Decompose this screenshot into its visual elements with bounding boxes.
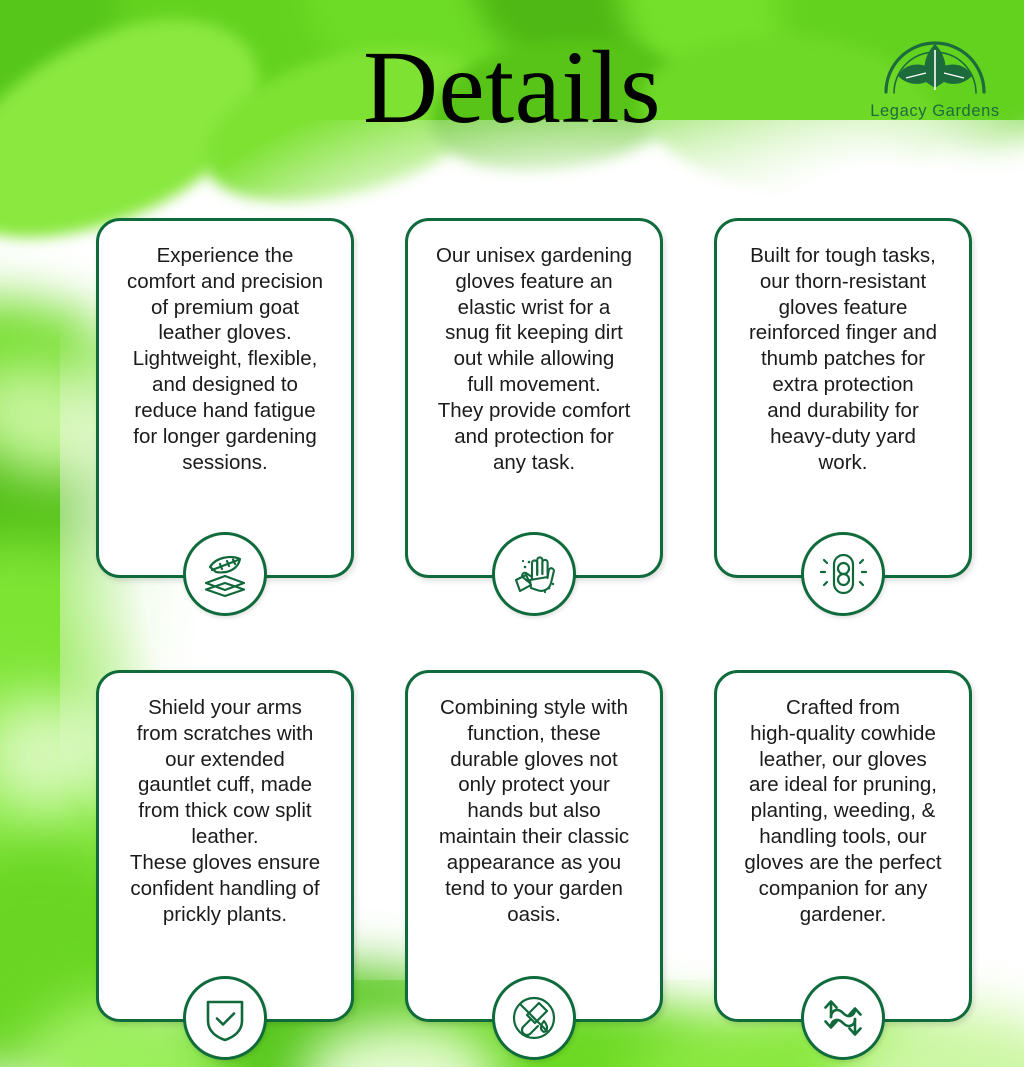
- feature-card-text: Combining style with function, these dur…: [422, 695, 646, 927]
- legacy-gardens-leaf-arch-logo-icon: [876, 26, 994, 100]
- shield-check-icon: [198, 991, 252, 1045]
- feature-card-lightweight-goat-leather: Experience the comfort and precision of …: [96, 218, 354, 578]
- brand-name: Legacy Gardens: [870, 102, 999, 121]
- feature-card-thorn-resistant: Built for tough tasks, our thorn-resista…: [714, 218, 972, 578]
- feature-icon-badge: [183, 532, 267, 616]
- feature-card-gauntlet-cuff: Shield your arms from scratches with our…: [96, 670, 354, 1022]
- gloved-hands-dirt-icon: [507, 547, 561, 601]
- feature-icon-badge: [492, 532, 576, 616]
- feature-icon-badge: [183, 976, 267, 1060]
- feature-card-text: Experience the comfort and precision of …: [113, 243, 337, 475]
- feature-card-elastic-wrist: Our unisex gardening gloves feature an e…: [405, 218, 663, 578]
- feather-on-layers-icon: [198, 547, 252, 601]
- feature-card-cowhide-leather: Crafted from high-quality cowhide leathe…: [714, 670, 972, 1022]
- feature-card-grid: Experience the comfort and precision of …: [96, 218, 978, 1022]
- chain-link-strength-icon: [816, 547, 870, 601]
- feature-card-text: Crafted from high-quality cowhide leathe…: [731, 695, 955, 927]
- feature-icon-badge: [801, 532, 885, 616]
- multi-direction-arrows-icon: [816, 991, 870, 1045]
- no-stain-droplet-icon: [507, 991, 561, 1045]
- feature-card-text: Our unisex gardening gloves feature an e…: [422, 243, 646, 475]
- page-header: Details Legacy Gardens: [0, 0, 1024, 175]
- feature-card-text: Built for tough tasks, our thorn-resista…: [731, 243, 955, 475]
- feature-card-text: Shield your arms from scratches with our…: [113, 695, 337, 927]
- feature-icon-badge: [801, 976, 885, 1060]
- feature-card-style-with-function: Combining style with function, these dur…: [405, 670, 663, 1022]
- feature-icon-badge: [492, 976, 576, 1060]
- details-infographic-page: Details Legacy Gardens Experience th: [0, 0, 1024, 1067]
- brand-logo: Legacy Gardens: [850, 26, 1020, 121]
